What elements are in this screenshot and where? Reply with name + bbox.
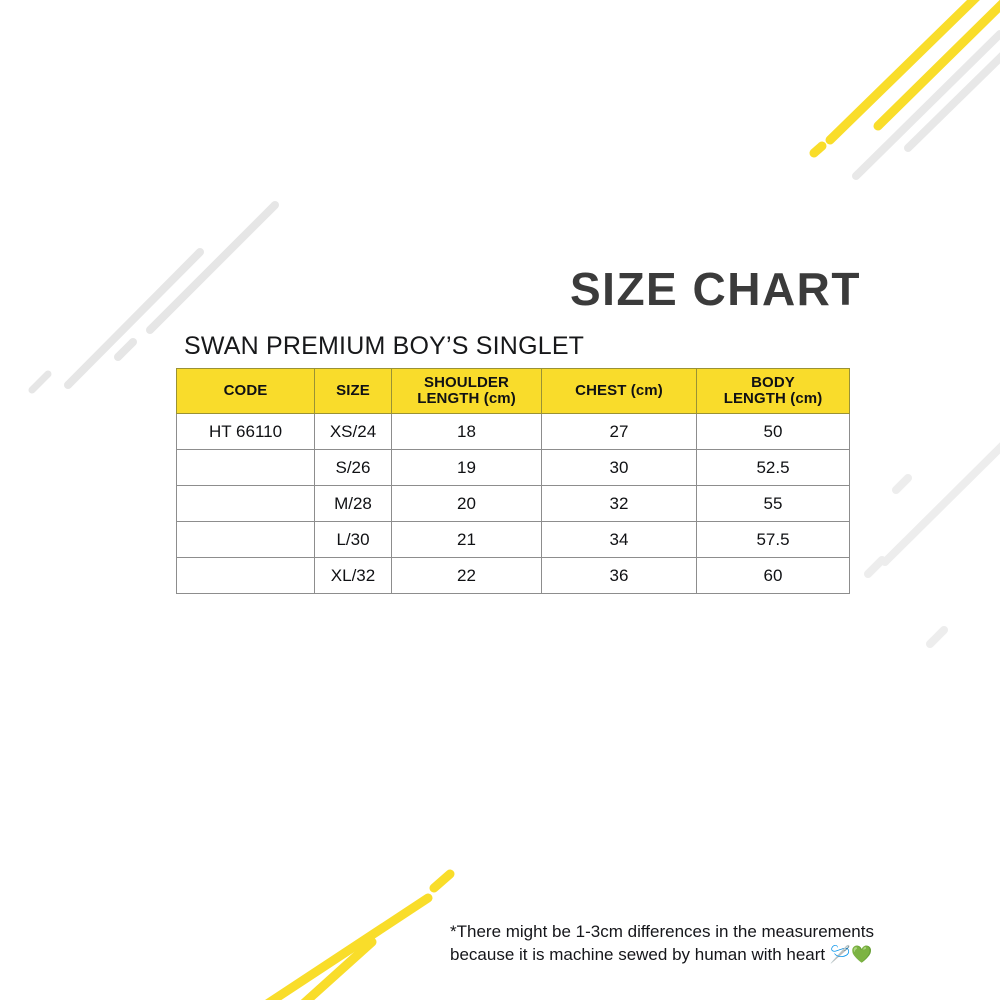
- page-subtitle: SWAN PREMIUM BOY’S SINGLET: [184, 332, 584, 361]
- cell-body: 57.5: [697, 522, 850, 558]
- column-header-body-line1: BODY: [751, 374, 795, 391]
- disclaimer-line-1: *There might be 1-3cm differences in the…: [450, 922, 874, 941]
- yellow-streak-group-top-right: [814, 0, 1000, 153]
- green-heart-icon: 💚: [851, 945, 872, 964]
- measurement-disclaimer: *There might be 1-3cm differences in the…: [450, 920, 970, 967]
- table-row: HT 66110 XS/24 18 27 50: [177, 414, 850, 450]
- cell-chest: 36: [542, 558, 697, 594]
- cell-shoulder: 22: [392, 558, 542, 594]
- column-header-body-length: BODY LENGTH (cm): [697, 369, 850, 414]
- cell-shoulder: 18: [392, 414, 542, 450]
- cell-shoulder: 19: [392, 450, 542, 486]
- column-header-size: SIZE: [315, 369, 392, 414]
- cell-shoulder: 21: [392, 522, 542, 558]
- table-row: XL/32 22 36 60: [177, 558, 850, 594]
- column-header-shoulder-line2: LENGTH (cm): [417, 390, 516, 407]
- cell-body: 60: [697, 558, 850, 594]
- table-row: L/30 21 34 57.5: [177, 522, 850, 558]
- gray-streak-group-right: [868, 440, 1000, 644]
- cell-code: HT 66110: [177, 414, 315, 450]
- cell-size: L/30: [315, 522, 392, 558]
- column-header-chest-line1: CHEST (cm): [575, 382, 663, 399]
- cell-body: 52.5: [697, 450, 850, 486]
- disclaimer-line-2: because it is machine sewed by human wit…: [450, 945, 825, 964]
- cell-size: M/28: [315, 486, 392, 522]
- cell-code: [177, 558, 315, 594]
- cell-chest: 34: [542, 522, 697, 558]
- cell-chest: 27: [542, 414, 697, 450]
- column-header-size-line1: SIZE: [336, 382, 370, 399]
- cell-chest: 32: [542, 486, 697, 522]
- cell-code: [177, 486, 315, 522]
- column-header-code: CODE: [177, 369, 315, 414]
- size-table-container: CODE SIZE SHOULDER LENGTH (cm) CHEST (cm…: [176, 368, 849, 594]
- cell-shoulder: 20: [392, 486, 542, 522]
- table-row: S/26 19 30 52.5: [177, 450, 850, 486]
- page-title: SIZE CHART: [570, 262, 861, 316]
- cell-code: [177, 450, 315, 486]
- cell-code: [177, 522, 315, 558]
- column-header-shoulder-length: SHOULDER LENGTH (cm): [392, 369, 542, 414]
- column-header-code-line1: CODE: [224, 382, 268, 399]
- cell-size: S/26: [315, 450, 392, 486]
- column-header-shoulder-line1: SHOULDER: [424, 374, 509, 391]
- yellow-streak-group-bottom-left: [258, 874, 450, 1000]
- table-row: M/28 20 32 55: [177, 486, 850, 522]
- cell-chest: 30: [542, 450, 697, 486]
- sewing-needle-icon: 🪡: [830, 945, 851, 964]
- table-header-row: CODE SIZE SHOULDER LENGTH (cm) CHEST (cm…: [177, 369, 850, 414]
- cell-body: 50: [697, 414, 850, 450]
- cell-size: XL/32: [315, 558, 392, 594]
- size-chart-canvas: SIZE CHART SWAN PREMIUM BOY’S SINGLET CO…: [0, 0, 1000, 1000]
- column-header-body-line2: LENGTH (cm): [724, 390, 823, 407]
- cell-body: 55: [697, 486, 850, 522]
- size-chart-table: CODE SIZE SHOULDER LENGTH (cm) CHEST (cm…: [176, 368, 850, 594]
- gray-streak-group-top-right: [856, 34, 1000, 176]
- gray-streak-group-top-left: [32, 205, 275, 390]
- cell-size: XS/24: [315, 414, 392, 450]
- column-header-chest: CHEST (cm): [542, 369, 697, 414]
